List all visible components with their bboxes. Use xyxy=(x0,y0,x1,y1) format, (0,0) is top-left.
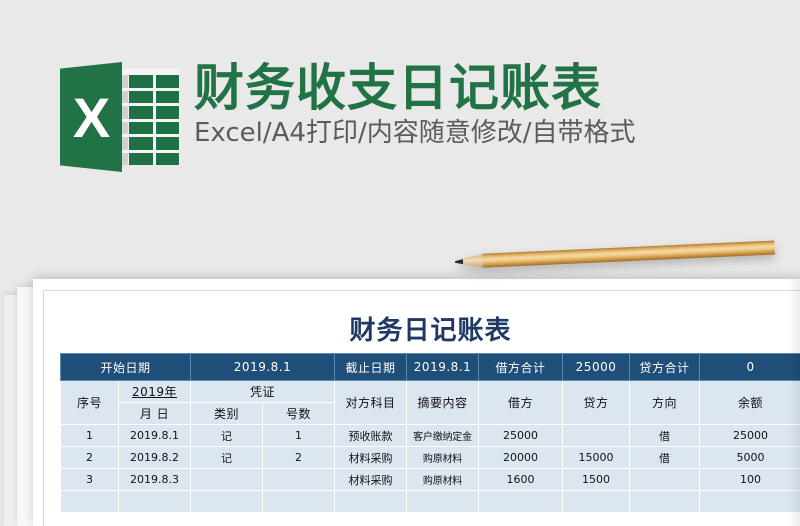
cell-seq[interactable] xyxy=(61,491,119,513)
cell-seq[interactable]: 2 xyxy=(61,447,119,469)
col-header-voucher: 凭证 xyxy=(191,381,335,403)
cell-account[interactable]: 预收账款 xyxy=(335,425,407,447)
cell-balance[interactable]: 5000 xyxy=(700,447,800,469)
col-header-counter-account: 对方科目 xyxy=(335,381,407,425)
cell-direction[interactable] xyxy=(630,469,700,491)
summary-label-credit-total: 贷方合计 xyxy=(630,354,700,381)
col-header-summary: 摘要内容 xyxy=(407,381,479,425)
cell-credit[interactable] xyxy=(563,491,630,513)
spreadsheet-title: 财务日记账表 xyxy=(60,314,800,353)
table-row[interactable]: 3 2019.8.3 材料采购 购原材料 1600 1500 100 xyxy=(61,469,800,491)
cell-voucher-type[interactable]: 记 xyxy=(191,425,263,447)
page-subtitle: Excel/A4打印/内容随意修改/自带格式 xyxy=(194,119,635,148)
cell-date[interactable]: 2019.8.3 xyxy=(119,469,191,491)
col-header-direction: 方向 xyxy=(630,381,700,425)
cell-voucher-no[interactable]: 2 xyxy=(263,447,335,469)
summary-value-credit-total[interactable]: 0 xyxy=(700,354,800,381)
sheet-surface: 财务日记账表 xyxy=(33,279,800,526)
cell-direction[interactable]: 借 xyxy=(630,425,700,447)
cell-balance[interactable] xyxy=(700,491,800,513)
hero-content: X 财务收支日记账表 Excel/A4打印/内容随意修改/自带格式 xyxy=(60,62,635,172)
cell-balance[interactable]: 100 xyxy=(700,469,800,491)
cell-direction[interactable] xyxy=(630,491,700,513)
cell-debit[interactable]: 1600 xyxy=(479,469,563,491)
cell-credit[interactable]: 1500 xyxy=(563,469,630,491)
col-header-voucher-no: 号数 xyxy=(263,403,335,425)
summary-value-end-date[interactable]: 2019.8.1 xyxy=(407,354,479,381)
col-header-voucher-type: 类别 xyxy=(191,403,263,425)
pencil-body xyxy=(483,240,775,267)
cell-voucher-type[interactable] xyxy=(191,491,263,513)
excel-logo-icon: X xyxy=(60,62,180,172)
spreadsheet: 财务日记账表 xyxy=(60,314,800,513)
paper-sheet-front: 财务日记账表 xyxy=(33,279,800,526)
cell-account[interactable]: 材料采购 xyxy=(335,447,407,469)
cell-debit[interactable] xyxy=(479,491,563,513)
cell-seq[interactable]: 3 xyxy=(61,469,119,491)
hero-banner: X 财务收支日记账表 Excel/A4打印/内容随意修改/自带格式 xyxy=(0,0,800,230)
summary-label-debit-total: 借方合计 xyxy=(479,354,563,381)
cell-date[interactable] xyxy=(119,491,191,513)
cell-summary[interactable]: 客户缴纳定金 xyxy=(407,425,479,447)
excel-logo-grid-cells xyxy=(129,75,179,165)
summary-band-row: 开始日期 2019.8.1 截止日期 2019.8.1 借方合计 25000 贷… xyxy=(61,354,800,381)
cell-summary[interactable] xyxy=(407,491,479,513)
cell-summary[interactable]: 购原材料 xyxy=(407,469,479,491)
page-title: 财务收支日记账表 xyxy=(194,62,635,114)
table-row[interactable]: 1 2019.8.1 记 1 预收账款 客户缴纳定金 25000 借 25000 xyxy=(61,425,800,447)
table-row[interactable] xyxy=(61,491,800,513)
cell-summary[interactable]: 购原材料 xyxy=(407,447,479,469)
column-header-row-1: 序号 2019年 凭证 对方科目 摘要内容 借方 贷方 方向 余额 xyxy=(61,381,800,403)
excel-logo-letter: X xyxy=(60,62,122,172)
cell-direction[interactable]: 借 xyxy=(630,447,700,469)
cell-account[interactable]: 材料采购 xyxy=(335,469,407,491)
hero-text-block: 财务收支日记账表 Excel/A4打印/内容随意修改/自带格式 xyxy=(194,62,635,148)
cell-date[interactable]: 2019.8.2 xyxy=(119,447,191,469)
table-row[interactable]: 2 2019.8.2 记 2 材料采购 购原材料 20000 15000 借 5… xyxy=(61,447,800,469)
cell-credit[interactable] xyxy=(563,425,630,447)
cell-debit[interactable]: 20000 xyxy=(479,447,563,469)
col-header-month-day: 月 日 xyxy=(119,403,191,425)
ledger-table: 开始日期 2019.8.1 截止日期 2019.8.1 借方合计 25000 贷… xyxy=(60,353,800,513)
cell-balance[interactable]: 25000 xyxy=(700,425,800,447)
col-header-seq: 序号 xyxy=(61,381,119,425)
summary-label-start-date: 开始日期 xyxy=(61,354,191,381)
col-header-debit: 借方 xyxy=(479,381,563,425)
col-header-year: 2019年 xyxy=(119,381,191,403)
pencil-icon xyxy=(455,240,775,269)
screenshot-root: X 财务收支日记账表 Excel/A4打印/内容随意修改/自带格式 财务日记账表 xyxy=(0,0,800,526)
cell-debit[interactable]: 25000 xyxy=(479,425,563,447)
cell-voucher-type[interactable]: 记 xyxy=(191,447,263,469)
cell-credit[interactable]: 15000 xyxy=(563,447,630,469)
summary-label-end-date: 截止日期 xyxy=(335,354,407,381)
cell-seq[interactable]: 1 xyxy=(61,425,119,447)
cell-voucher-no[interactable] xyxy=(263,469,335,491)
cell-date[interactable]: 2019.8.1 xyxy=(119,425,191,447)
col-header-credit: 贷方 xyxy=(563,381,630,425)
cell-voucher-type[interactable] xyxy=(191,469,263,491)
cell-account[interactable] xyxy=(335,491,407,513)
summary-value-start-date[interactable]: 2019.8.1 xyxy=(191,354,335,381)
summary-value-debit-total[interactable]: 25000 xyxy=(563,354,630,381)
cell-voucher-no[interactable] xyxy=(263,491,335,513)
cell-voucher-no[interactable]: 1 xyxy=(263,425,335,447)
col-header-balance: 余额 xyxy=(700,381,800,425)
